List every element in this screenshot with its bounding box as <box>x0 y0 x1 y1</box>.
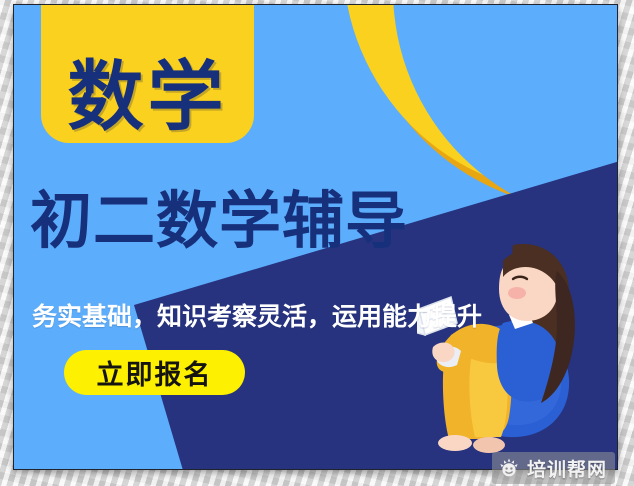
subtitle-text: 务实基础，知识考察灵活，运用能力提升 <box>32 297 482 333</box>
page-title: 初二数学辅导 <box>30 188 530 253</box>
smiling-sun-face-icon <box>498 457 520 479</box>
enroll-now-button[interactable]: 立即报名 <box>64 350 245 395</box>
subject-badge-label: 数学 <box>68 59 228 135</box>
watermark: 培训帮网 <box>492 452 615 484</box>
girl-reading-illustration <box>417 231 607 461</box>
page-backdrop: 数学 初二数学辅导 务实基础，知识考察灵活，运用能力提升 立即报名 培训帮网 <box>0 0 634 486</box>
subject-badge: 数学 <box>41 4 254 143</box>
watermark-label: 培训帮网 <box>527 455 607 482</box>
course-promo-poster: 数学 初二数学辅导 务实基础，知识考察灵活，运用能力提升 立即报名 <box>13 4 618 470</box>
